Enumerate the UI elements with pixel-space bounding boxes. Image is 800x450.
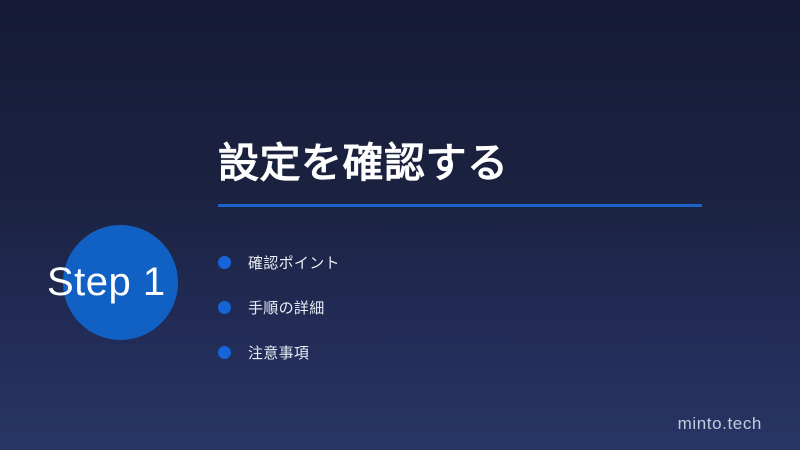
title-divider bbox=[218, 204, 702, 207]
bullet-label: 注意事項 bbox=[248, 342, 309, 363]
list-item: 注意事項 bbox=[218, 330, 688, 375]
step-badge: Step 1 bbox=[0, 110, 210, 235]
list-item: 確認ポイント bbox=[218, 240, 688, 285]
bullet-dot-icon bbox=[218, 301, 231, 314]
title-block: 設定を確認する bbox=[218, 140, 718, 207]
bullet-list: 確認ポイント 手順の詳細 注意事項 bbox=[218, 240, 688, 375]
slide-title: 設定を確認する bbox=[218, 140, 718, 187]
bullet-dot-icon bbox=[218, 256, 231, 269]
list-item: 手順の詳細 bbox=[218, 285, 688, 330]
step-label: Step 1 bbox=[47, 223, 207, 341]
bullet-dot-icon bbox=[218, 346, 231, 359]
footer-brand: minto.tech bbox=[678, 414, 762, 434]
presentation-slide: Step 1 設定を確認する 確認ポイント 手順の詳細 注意事項 minto.t… bbox=[0, 0, 800, 450]
bullet-label: 確認ポイント bbox=[248, 252, 340, 273]
bullet-label: 手順の詳細 bbox=[248, 297, 325, 318]
